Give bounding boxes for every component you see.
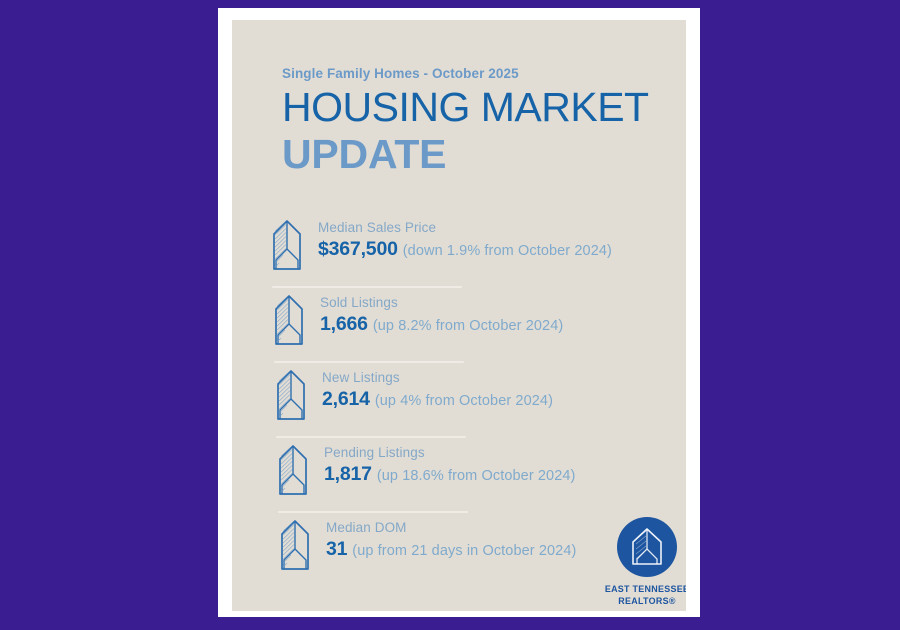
- house-outline-icon: [272, 219, 302, 271]
- house-outline-icon: [280, 519, 310, 571]
- row-divider: [272, 286, 462, 288]
- row-divider: [278, 511, 468, 513]
- stat-change: (up 4% from October 2024): [375, 393, 553, 409]
- header-block: Single Family Homes - October 2025 HOUSI…: [282, 66, 682, 179]
- house-outline-icon: [274, 294, 304, 346]
- stat-change: (up from 21 days in October 2024): [352, 543, 576, 559]
- stat-row: Sold Listings1,666(up 8.2% from October …: [232, 290, 686, 365]
- logo-wordmark-line1: EAST TENNESSEE: [598, 584, 686, 596]
- house-outline-icon: [276, 369, 306, 421]
- page-title-line2: UPDATE: [282, 129, 682, 179]
- stat-row: New Listings2,614(up 4% from October 202…: [232, 365, 686, 440]
- stat-label: New Listings: [322, 370, 553, 386]
- stat-change: (down 1.9% from October 2024): [403, 243, 612, 259]
- stat-label: Sold Listings: [320, 295, 563, 311]
- stat-value-line: 1,666(up 8.2% from October 2024): [320, 312, 563, 338]
- row-divider: [274, 361, 464, 363]
- stat-value: 2,614: [322, 388, 370, 410]
- stat-value: 1,666: [320, 313, 368, 335]
- house-outline-icon: [278, 444, 308, 496]
- stat-row: Median Sales Price$367,500(down 1.9% fro…: [232, 215, 686, 290]
- stat-row: Pending Listings1,817(up 18.6% from Octo…: [232, 440, 686, 515]
- stat-value: 31: [326, 538, 347, 560]
- stat-row-content: Sold Listings1,666(up 8.2% from October …: [274, 290, 563, 346]
- stat-row-content: Pending Listings1,817(up 18.6% from Octo…: [278, 440, 575, 496]
- stat-label: Median Sales Price: [318, 220, 612, 236]
- stat-value-line: 31(up from 21 days in October 2024): [326, 537, 576, 563]
- page-canvas: Single Family Homes - October 2025 HOUSI…: [0, 0, 900, 630]
- stat-text: New Listings2,614(up 4% from October 202…: [322, 365, 553, 413]
- flyer-frame: Single Family Homes - October 2025 HOUSI…: [218, 8, 700, 617]
- stat-text: Median DOM31(up from 21 days in October …: [326, 515, 576, 563]
- report-subtitle: Single Family Homes - October 2025: [282, 66, 682, 81]
- stat-value-line: $367,500(down 1.9% from October 2024): [318, 237, 612, 263]
- stat-label: Median DOM: [326, 520, 576, 536]
- logo-wordmark-line2: REALTORS®: [598, 596, 686, 608]
- stat-row-content: New Listings2,614(up 4% from October 202…: [276, 365, 553, 421]
- stat-value-line: 1,817(up 18.6% from October 2024): [324, 462, 575, 488]
- brand-logo: EAST TENNESSEE REALTORS®: [595, 517, 686, 607]
- stat-value: 1,817: [324, 463, 372, 485]
- stat-row-content: Median Sales Price$367,500(down 1.9% fro…: [272, 215, 612, 271]
- stat-text: Sold Listings1,666(up 8.2% from October …: [320, 290, 563, 338]
- stat-value: $367,500: [318, 238, 398, 260]
- stat-change: (up 8.2% from October 2024): [373, 318, 564, 334]
- east-tennessee-realtors-house-icon: [630, 527, 664, 567]
- row-divider: [276, 436, 466, 438]
- stat-text: Median Sales Price$367,500(down 1.9% fro…: [318, 215, 612, 263]
- flyer-card: Single Family Homes - October 2025 HOUSI…: [232, 20, 686, 611]
- stat-value-line: 2,614(up 4% from October 2024): [322, 387, 553, 413]
- logo-wordmark: EAST TENNESSEE REALTORS®: [598, 584, 686, 607]
- stat-row-content: Median DOM31(up from 21 days in October …: [280, 515, 576, 571]
- page-title-line1: HOUSING MARKET: [282, 85, 682, 129]
- logo-badge: [617, 517, 677, 577]
- stat-change: (up 18.6% from October 2024): [377, 468, 576, 484]
- stat-text: Pending Listings1,817(up 18.6% from Octo…: [324, 440, 575, 488]
- stat-label: Pending Listings: [324, 445, 575, 461]
